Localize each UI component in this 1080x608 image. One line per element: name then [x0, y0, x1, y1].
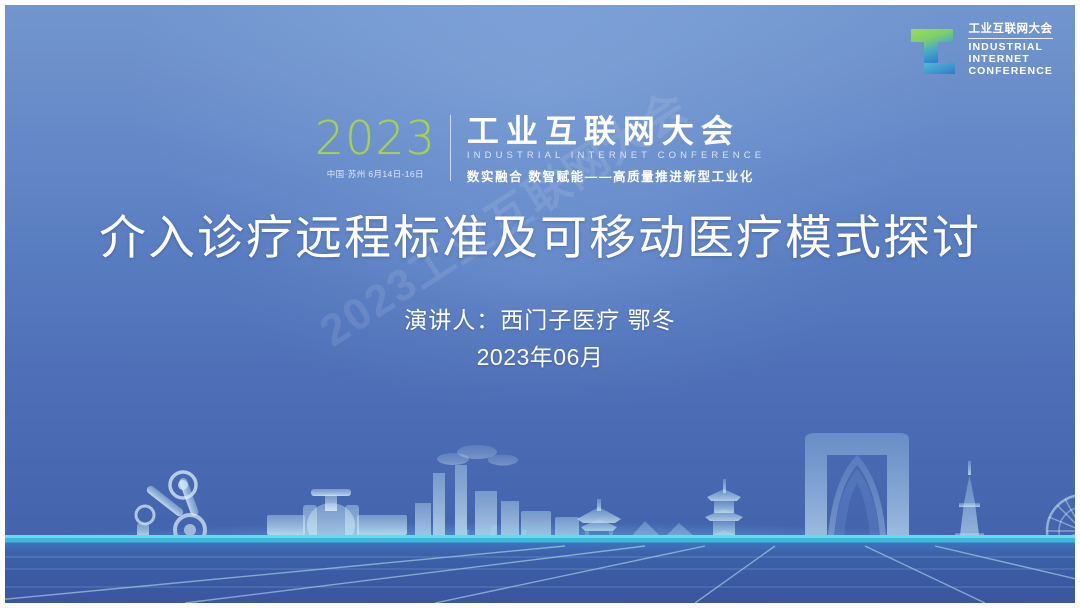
- logo-chinese-name: 工业互联网大会: [968, 23, 1053, 39]
- industrial-valve-icon: [267, 489, 407, 547]
- horizon-glow: [5, 521, 1075, 547]
- logo-en-line-2: INTERNET: [968, 53, 1053, 65]
- conference-logo: 工业互联网大会 INDUSTRIAL INTERNET CONFERENCE: [907, 23, 1053, 78]
- conference-logo-text: 工业互联网大会 INDUSTRIAL INTERNET CONFERENCE: [968, 23, 1053, 78]
- banner-conference-name-cn: 工业互联网大会: [467, 113, 765, 149]
- city-skyline-illustration: [5, 413, 1075, 603]
- slide-title: 介入诊疗远程标准及可移动医疗模式探讨: [5, 208, 1075, 268]
- oil-pumpjack-icon: [451, 525, 537, 581]
- conference-t-logo-icon: [907, 23, 959, 77]
- banner-year: 2023: [315, 113, 436, 163]
- presentation-date: 2023年06月: [5, 341, 1075, 373]
- suzhou-museum-icon: [629, 521, 697, 575]
- banner-slogan: 数实融合 数智赋能——高质量推进新型工业化: [467, 166, 765, 185]
- logo-en-line-3: CONFERENCE: [968, 65, 1053, 77]
- presentation-slide: 工业互联网大会 INDUSTRIAL INTERNET CONFERENCE 2…: [0, 0, 1080, 608]
- presenter-name: 演讲人：西门子医疗 鄂冬: [5, 303, 1075, 337]
- eiffel-tower-icon: [951, 461, 988, 562]
- factory-smokestacks-icon: [415, 445, 579, 545]
- ferris-wheel-icon: [1047, 495, 1075, 567]
- banner-year-block: 2023 中国·苏州 6月14日-16日: [315, 113, 450, 185]
- banner-title-block: 工业互联网大会 INDUSTRIAL INTERNET CONFERENCE 数…: [451, 113, 765, 185]
- robot-arm-icon: [136, 472, 219, 559]
- banner-location-date: 中国·苏州 6月14日-16日: [327, 168, 424, 180]
- logo-en-line-1: INDUSTRIAL: [968, 41, 1053, 53]
- banner-conference-name-en: INDUSTRIAL INTERNET CONFERENCE: [467, 150, 765, 161]
- perspective-ground-plane: [5, 535, 1075, 603]
- gate-of-the-orient-icon: [805, 433, 909, 561]
- presenter-block: 演讲人：西门子医疗 鄂冬 2023年06月: [5, 303, 1075, 373]
- pagoda-icon: [701, 479, 747, 585]
- conference-banner: 2023 中国·苏州 6月14日-16日 工业互联网大会 INDUSTRIAL …: [5, 113, 1075, 185]
- chinese-pavilion-icon: [577, 499, 621, 575]
- slide-canvas: 工业互联网大会 INDUSTRIAL INTERNET CONFERENCE 2…: [5, 5, 1075, 603]
